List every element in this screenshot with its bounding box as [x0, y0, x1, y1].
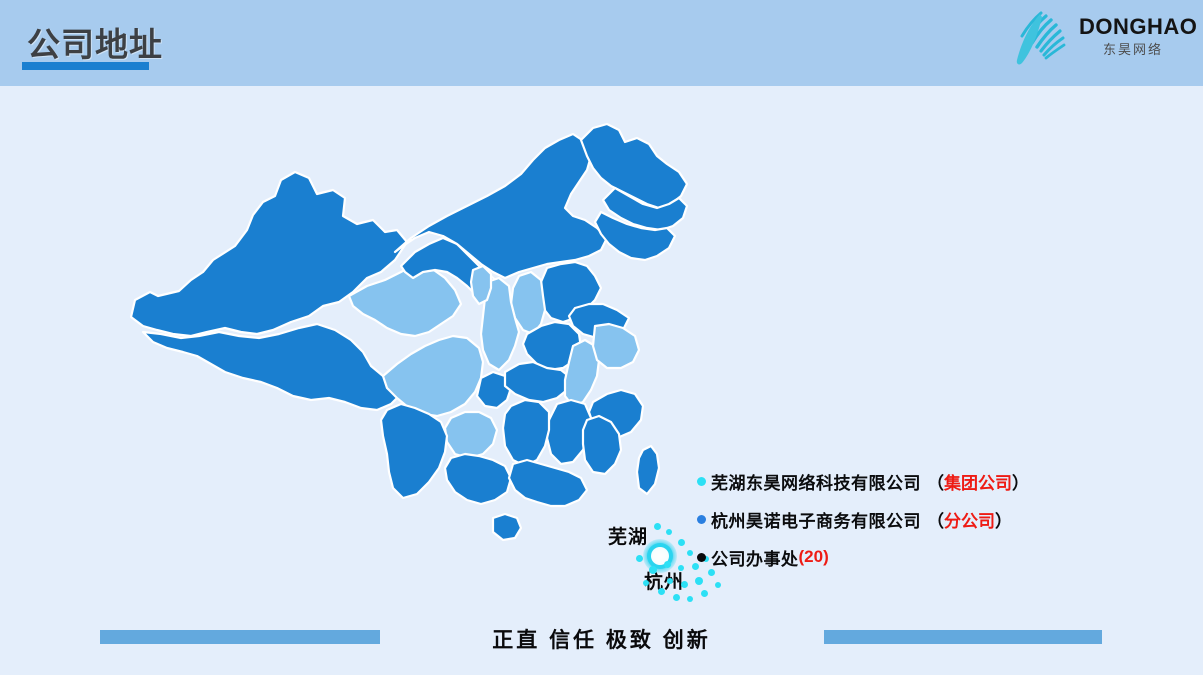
- province-yunnan: [381, 404, 447, 498]
- office-dot[interactable]: [687, 550, 693, 556]
- office-dot[interactable]: [673, 594, 680, 601]
- office-dot[interactable]: [664, 561, 671, 568]
- footer-bar-right: [824, 630, 1102, 644]
- company-logo: DONGHAO 东昊网络: [1011, 8, 1189, 74]
- slide-root: 公司地址 DONGHAO 东昊网络: [0, 0, 1203, 675]
- office-dot[interactable]: [681, 581, 688, 588]
- legend-label: 公司办事处: [711, 545, 799, 570]
- logo-chinese-text: 东昊网络: [1079, 43, 1187, 56]
- office-dot[interactable]: [649, 566, 657, 574]
- province-hunan: [503, 400, 549, 466]
- office-dot[interactable]: [701, 590, 708, 597]
- province-ningxia: [471, 266, 491, 304]
- wing-body: [1017, 14, 1042, 64]
- legend-item-branch-company[interactable]: 杭州昊诺电子商务有限公司 （ 分公司 ）: [697, 500, 1127, 538]
- office-dot[interactable]: [654, 523, 661, 530]
- legend-bullet-cyan-icon: [697, 477, 706, 486]
- office-dot[interactable]: [687, 596, 693, 602]
- title-underline: [22, 62, 149, 70]
- province-guizhou: [445, 412, 497, 458]
- legend-label: 芜湖东昊网络科技有限公司: [711, 469, 921, 494]
- page-title: 公司地址: [27, 18, 163, 66]
- office-dot[interactable]: [695, 577, 703, 585]
- province-sichuan: [383, 336, 483, 416]
- office-dot[interactable]: [667, 578, 673, 584]
- office-dot[interactable]: [666, 529, 672, 535]
- legend-bullet-black-icon: [697, 553, 706, 562]
- office-dot[interactable]: [636, 555, 643, 562]
- legend-list: 芜湖东昊网络科技有限公司 （ 集团公司 ） 杭州昊诺电子商务有限公司 （ 分公司…: [697, 462, 1127, 576]
- province-guangxi: [445, 454, 511, 504]
- legend-label: 杭州昊诺电子商务有限公司: [711, 507, 921, 532]
- legend-paren-close: ）: [995, 507, 1012, 532]
- office-dot[interactable]: [643, 580, 649, 586]
- legend-item-offices[interactable]: 公司办事处 ( 20 ): [697, 538, 1127, 576]
- province-hainan: [493, 514, 521, 540]
- legend-paren-close: ）: [1012, 469, 1029, 494]
- legend-accent-text: 集团公司: [944, 469, 1012, 494]
- office-dot[interactable]: [715, 582, 721, 588]
- province-jiangsu: [593, 324, 639, 368]
- province-tibet: [143, 324, 401, 410]
- office-dot[interactable]: [678, 539, 685, 546]
- logo-text: DONGHAO 东昊网络: [1079, 16, 1187, 56]
- legend-accent-text: 20: [804, 547, 823, 567]
- hq-marker-wuhu[interactable]: [643, 539, 677, 573]
- legend-item-group-company[interactable]: 芜湖东昊网络科技有限公司 （ 集团公司 ）: [697, 462, 1127, 500]
- legend-paren-open: （: [927, 507, 944, 532]
- legend-bullet-blue-icon: [697, 515, 706, 524]
- wing-feather-icon: [1011, 8, 1077, 70]
- city-label-wuhu: 芜湖: [608, 522, 648, 549]
- legend-accent-text: 分公司: [944, 507, 995, 532]
- province-taiwan: [637, 446, 659, 494]
- logo-latin-text: DONGHAO: [1079, 16, 1187, 38]
- province-heilongjiang: [581, 124, 687, 208]
- province-guangdong: [509, 460, 587, 506]
- legend-paren-close: ): [823, 547, 829, 567]
- office-dot[interactable]: [678, 565, 684, 571]
- office-dot[interactable]: [658, 588, 665, 595]
- legend-paren-open: （: [927, 469, 944, 494]
- china-map: 芜湖 杭州: [95, 120, 735, 600]
